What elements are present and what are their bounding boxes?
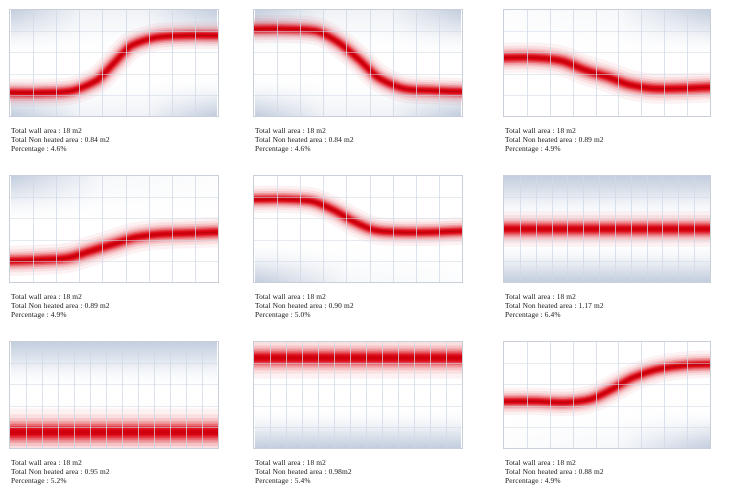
panel-6-heatmap[interactable] (503, 175, 711, 283)
panel-4-caption: Total wall area : 18 m2Total Non heated … (11, 292, 110, 319)
heatmap-canvas (10, 176, 218, 282)
panel-cell: Total wall area : 18 m2Total Non heated … (496, 0, 730, 166)
panel-1-heatmap[interactable] (9, 9, 219, 117)
panel-4-heatmap[interactable] (9, 175, 219, 283)
panel-cell: Total wall area : 18 m2Total Non heated … (0, 332, 246, 500)
caption-line: Total Non heated area : 0.89 m2 (11, 301, 110, 310)
panel-5-heatmap[interactable] (253, 175, 463, 283)
heatmap-canvas (254, 176, 462, 282)
panel-1-caption: Total wall area : 18 m2Total Non heated … (11, 126, 110, 153)
panel-9-heatmap[interactable] (503, 341, 711, 449)
heatmap-canvas (254, 342, 462, 448)
caption-line: Percentage : 5.4% (255, 476, 352, 485)
caption-line: Percentage : 4.6% (11, 144, 110, 153)
caption-line: Total wall area : 18 m2 (505, 126, 604, 135)
caption-line: Total wall area : 18 m2 (11, 292, 110, 301)
panel-cell: Total wall area : 18 m2Total Non heated … (0, 166, 246, 332)
panel-8-caption: Total wall area : 18 m2Total Non heated … (255, 458, 352, 485)
panel-2-heatmap[interactable] (253, 9, 463, 117)
caption-line: Total Non heated area : 1.17 m2 (505, 301, 604, 310)
caption-line: Total Non heated area : 0.84 m2 (255, 135, 354, 144)
caption-line: Total wall area : 18 m2 (255, 458, 352, 467)
caption-line: Total wall area : 18 m2 (505, 292, 604, 301)
caption-line: Percentage : 5.2% (11, 476, 110, 485)
panel-6-caption: Total wall area : 18 m2Total Non heated … (505, 292, 604, 319)
caption-line: Percentage : 5.0% (255, 310, 354, 319)
panel-2-caption: Total wall area : 18 m2Total Non heated … (255, 126, 354, 153)
panel-8-heatmap[interactable] (253, 341, 463, 449)
heatmap-canvas (504, 10, 710, 116)
caption-line: Total Non heated area : 0.89 m2 (505, 135, 604, 144)
panel-cell: Total wall area : 18 m2Total Non heated … (246, 332, 496, 500)
panel-grid: Total wall area : 18 m2Total Non heated … (0, 0, 730, 500)
caption-line: Percentage : 4.9% (505, 476, 604, 485)
caption-line: Total wall area : 18 m2 (11, 458, 110, 467)
heatmap-canvas (10, 342, 218, 448)
panel-9-caption: Total wall area : 18 m2Total Non heated … (505, 458, 604, 485)
heatmap-canvas (10, 10, 218, 116)
panel-5-caption: Total wall area : 18 m2Total Non heated … (255, 292, 354, 319)
caption-line: Percentage : 4.9% (505, 144, 604, 153)
caption-line: Total Non heated area : 0.90 m2 (255, 301, 354, 310)
caption-line: Total Non heated area : 0.98m2 (255, 467, 352, 476)
caption-line: Percentage : 4.6% (255, 144, 354, 153)
heatmap-canvas (504, 176, 710, 282)
heatmap-canvas (254, 10, 462, 116)
caption-line: Total wall area : 18 m2 (255, 126, 354, 135)
caption-line: Percentage : 6.4% (505, 310, 604, 319)
caption-line: Total wall area : 18 m2 (11, 126, 110, 135)
caption-line: Total Non heated area : 0.88 m2 (505, 467, 604, 476)
caption-line: Total Non heated area : 0.95 m2 (11, 467, 110, 476)
panel-cell: Total wall area : 18 m2Total Non heated … (496, 332, 730, 500)
panel-7-heatmap[interactable] (9, 341, 219, 449)
panel-cell: Total wall area : 18 m2Total Non heated … (0, 0, 246, 166)
caption-line: Percentage : 4.9% (11, 310, 110, 319)
panel-3-caption: Total wall area : 18 m2Total Non heated … (505, 126, 604, 153)
panel-cell: Total wall area : 18 m2Total Non heated … (246, 0, 496, 166)
panel-7-caption: Total wall area : 18 m2Total Non heated … (11, 458, 110, 485)
caption-line: Total Non heated area : 0.84 m2 (11, 135, 110, 144)
heatmap-canvas (504, 342, 710, 448)
panel-cell: Total wall area : 18 m2Total Non heated … (246, 166, 496, 332)
panel-cell: Total wall area : 18 m2Total Non heated … (496, 166, 730, 332)
caption-line: Total wall area : 18 m2 (255, 292, 354, 301)
caption-line: Total wall area : 18 m2 (505, 458, 604, 467)
panel-3-heatmap[interactable] (503, 9, 711, 117)
